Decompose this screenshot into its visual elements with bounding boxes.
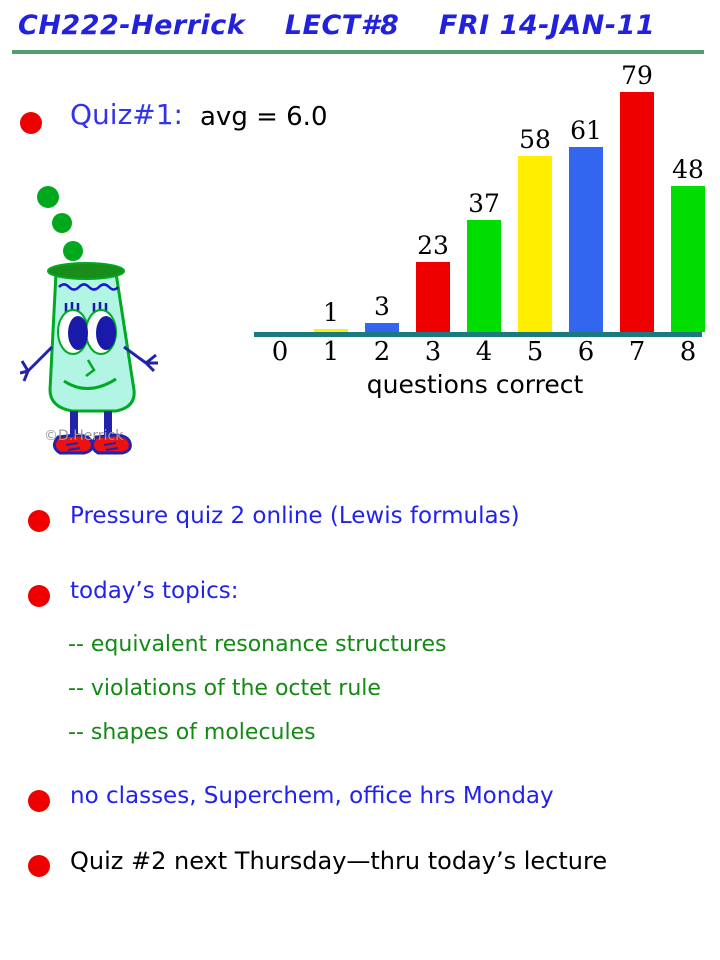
bar-column [254, 70, 306, 332]
bar-column: 48 [662, 70, 714, 332]
bubble-icon [52, 213, 72, 233]
quiz-score-bar-chart: 13233758617948 012345678 questions corre… [240, 60, 710, 400]
bullet-item-no-classes: no classes, Superchem, office hrs Monday [70, 783, 554, 809]
bullet-dot-icon [28, 855, 50, 877]
bar-column: 79 [611, 70, 663, 332]
copyright-credit: ©D.Herrick [44, 428, 123, 444]
chart-plot-area: 13233758617948 012345678 [240, 60, 710, 335]
x-tick-label: 8 [662, 337, 714, 367]
bullet-item-quiz2-notice: Quiz #2 next Thursday—thru today’s lectu… [70, 847, 607, 875]
x-tick-label: 0 [254, 337, 306, 367]
bar-rect [518, 156, 552, 332]
arm-left [20, 347, 52, 381]
bullet-dot-icon [28, 790, 50, 812]
x-tick-label: 6 [560, 337, 612, 367]
x-tick-label: 1 [305, 337, 357, 367]
bar-rect [620, 92, 654, 332]
flask-mascot-svg [20, 175, 200, 455]
bar-value-label: 23 [407, 231, 459, 260]
bar-value-label: 37 [458, 189, 510, 218]
bar-rect [365, 323, 399, 332]
x-tick-label: 5 [509, 337, 561, 367]
slide-header: CH222-Herrick LECT#8 FRI 14-JAN-11 [0, 0, 720, 56]
pupil-left [68, 316, 88, 350]
subtopic-item-octet-violations: -- violations of the octet rule [68, 676, 381, 701]
subtopic-item-molecule-shapes: -- shapes of molecules [68, 720, 316, 745]
bar-value-label: 48 [662, 155, 714, 184]
bar-column: 61 [560, 70, 612, 332]
bar-column: 58 [509, 70, 561, 332]
lecture-slide: CH222-Herrick LECT#8 FRI 14-JAN-11 Quiz#… [0, 0, 720, 960]
flask-mascot-illustration [20, 175, 200, 455]
bar-value-label: 1 [305, 298, 357, 327]
bullet-dot-icon [28, 585, 50, 607]
bullet-item-todays-topics: today’s topics: [70, 578, 238, 604]
subtopic-item-resonance: -- equivalent resonance structures [68, 632, 446, 657]
bar-value-label: 61 [560, 116, 612, 145]
x-tick-label: 7 [611, 337, 663, 367]
bar-column: 23 [407, 70, 459, 332]
bar-column: 37 [458, 70, 510, 332]
bar-column: 1 [305, 70, 357, 332]
bar-column: 3 [356, 70, 408, 332]
bullet-dot-icon [20, 112, 42, 134]
bullet-item-pressure-quiz: Pressure quiz 2 online (Lewis formulas) [70, 503, 520, 529]
bar-rect [467, 220, 501, 332]
x-axis-title: questions correct [240, 370, 710, 399]
bar-value-label: 3 [356, 292, 408, 321]
bar-rect [416, 262, 450, 332]
page-title: CH222-Herrick LECT#8 FRI 14-JAN-11 [18, 10, 655, 41]
bar-value-label: 79 [611, 61, 663, 90]
quiz-label: Quiz#1: [70, 98, 183, 131]
flask-rim [48, 263, 124, 279]
bar-rect [671, 186, 705, 332]
x-tick-label: 4 [458, 337, 510, 367]
bar-value-label: 58 [509, 125, 561, 154]
bar-rect [569, 147, 603, 332]
x-tick-label: 3 [407, 337, 459, 367]
pupil-right [96, 316, 116, 350]
bullet-dot-icon [28, 510, 50, 532]
header-divider [12, 50, 704, 54]
x-tick-label: 2 [356, 337, 408, 367]
bubble-icon [37, 186, 59, 208]
bubble-icon [63, 241, 83, 261]
